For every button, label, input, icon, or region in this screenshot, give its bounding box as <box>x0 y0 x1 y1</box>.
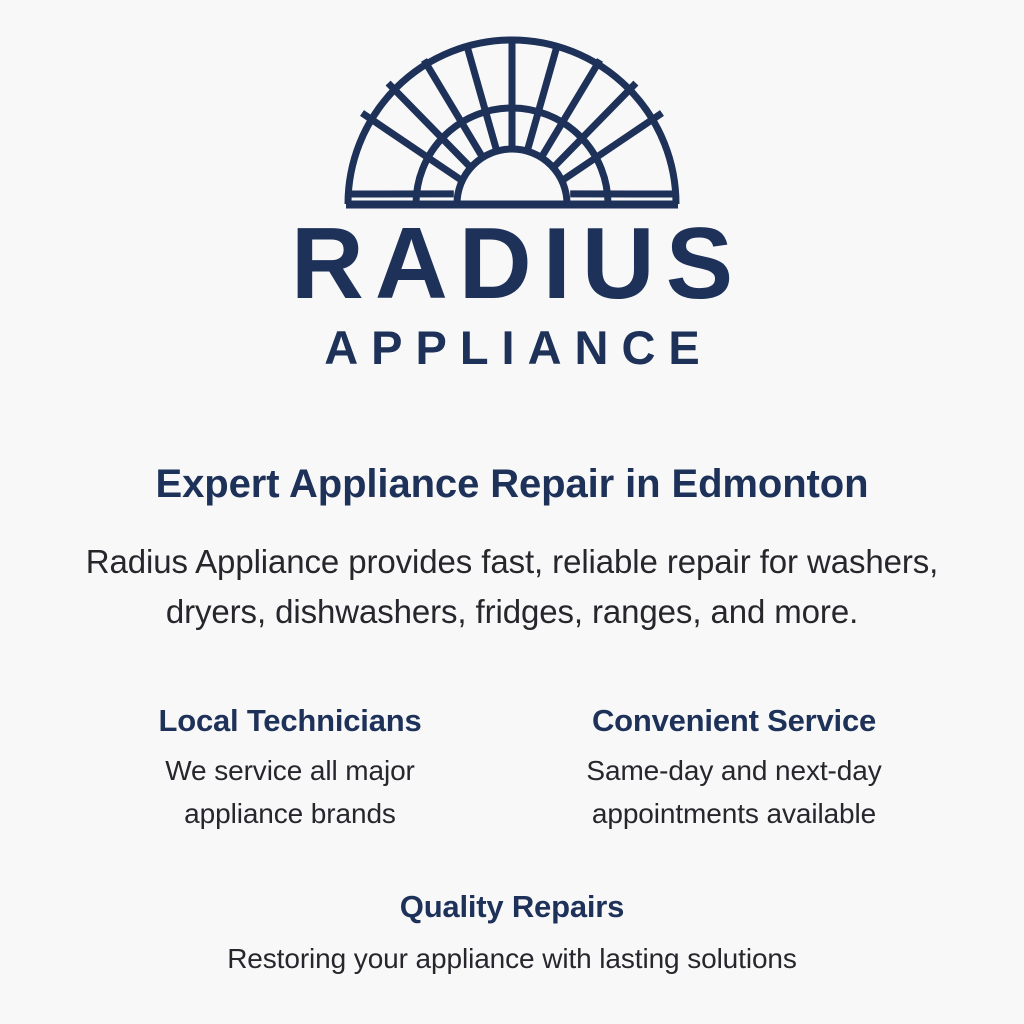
feature-description: We service all major appliance brands <box>107 749 473 836</box>
brand-logo-block: RADIUS APPLIANCE <box>0 0 1024 400</box>
wordmark-radius: RADIUS <box>0 214 1024 315</box>
feature-title: Quality Repairs <box>0 890 1024 925</box>
feature-local-technicians: Local Technicians We service all major a… <box>107 704 473 836</box>
page-title: Expert Appliance Repair in Edmonton <box>0 461 1024 508</box>
feature-quality-repairs: Quality Repairs Restoring your appliance… <box>0 890 1024 980</box>
feature-description: Same-day and next-day appointments avail… <box>551 749 917 836</box>
fan-window-semicircle-icon <box>342 34 682 212</box>
feature-title: Local Technicians <box>107 704 473 739</box>
intro-paragraph: Radius Appliance provides fast, reliable… <box>82 537 942 636</box>
feature-convenient-service: Convenient Service Same-day and next-day… <box>551 704 917 836</box>
feature-title: Convenient Service <box>551 704 917 739</box>
marketing-card: RADIUS APPLIANCE Expert Appliance Repair… <box>0 0 1024 1024</box>
feature-columns: Local Technicians We service all major a… <box>0 704 1024 836</box>
wordmark-appliance: APPLIANCE <box>0 324 1024 371</box>
feature-description: Restoring your appliance with lasting so… <box>0 937 1024 980</box>
